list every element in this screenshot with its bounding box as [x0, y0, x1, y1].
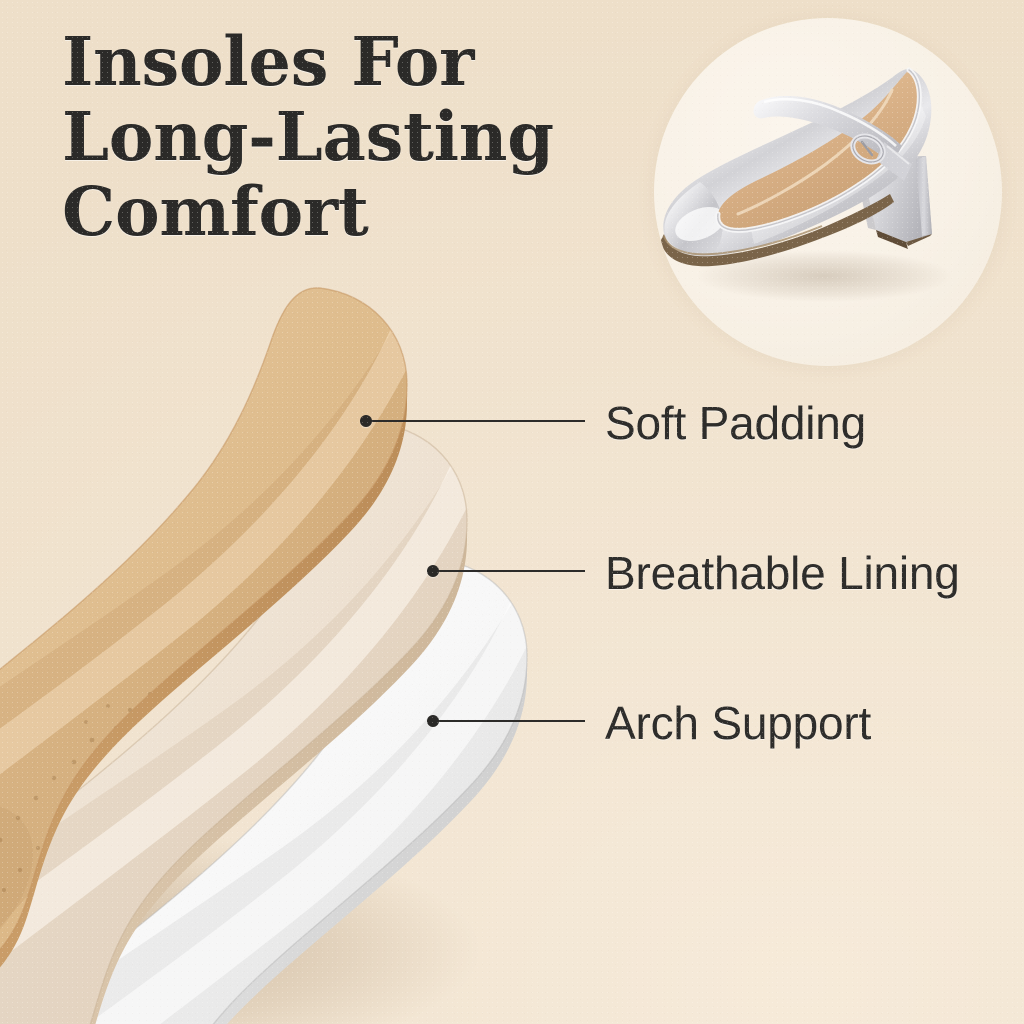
callout-line: [433, 720, 585, 722]
insole-stack-illustration: [0, 250, 670, 1024]
feature-label-breathable-lining: Breathable Lining: [605, 546, 960, 600]
callout-breathable-lining: [433, 570, 585, 572]
callout-dot: [360, 415, 372, 427]
callout-soft-padding: [366, 420, 585, 422]
feature-label-arch-support: Arch Support: [605, 696, 871, 750]
callout-line: [433, 570, 585, 572]
product-inset-circle: [654, 18, 1002, 366]
infographic-canvas: Soft Padding Breathable Lining Arch Supp…: [0, 0, 1024, 1024]
callout-dot: [427, 565, 439, 577]
callout-arch-support: [433, 720, 585, 722]
callout-line: [366, 420, 585, 422]
callout-dot: [427, 715, 439, 727]
feature-label-soft-padding: Soft Padding: [605, 396, 866, 450]
page-title: Insoles For Long-Lasting Comfort: [62, 24, 582, 249]
